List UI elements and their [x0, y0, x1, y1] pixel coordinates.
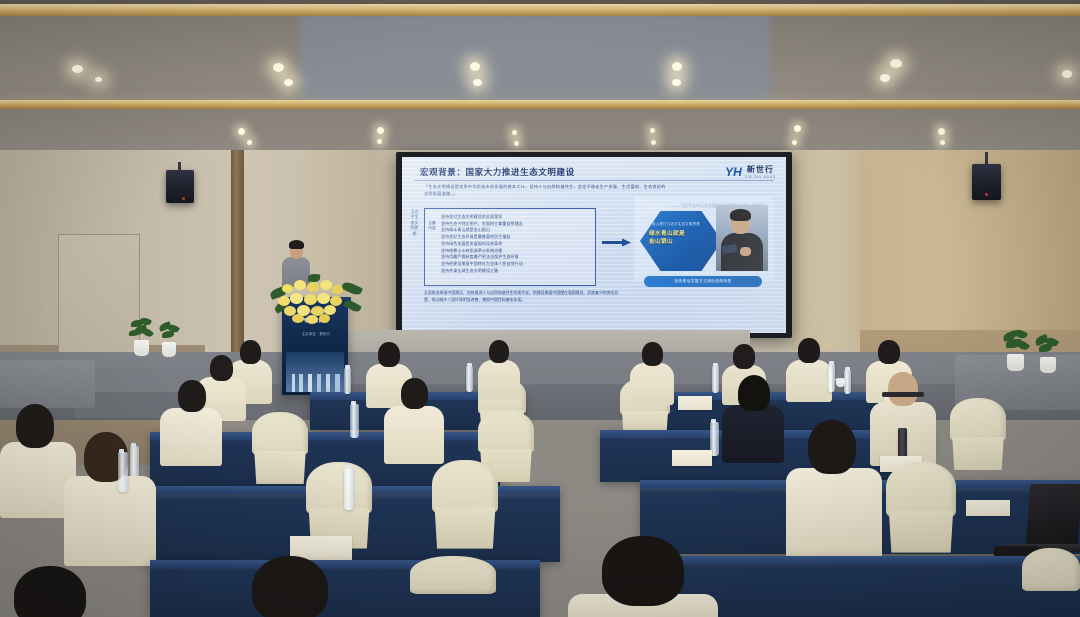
podium-line3: 主办单位 · 新世行 [288, 331, 344, 336]
speaker-mount [985, 152, 988, 164]
ceiling-downlight [672, 79, 681, 86]
attendee [0, 566, 118, 617]
potted-plant-right-1 [1000, 330, 1030, 374]
ceiling-downlight [512, 130, 517, 135]
hex-eyebrow: 深入践行习近平生态文明思想 [652, 221, 700, 226]
attendee [384, 378, 444, 460]
water-bottle[interactable] [828, 364, 835, 392]
slide-box-item: 坚持良好生态环境是最普惠的民生福祉 [441, 234, 589, 241]
attendee [786, 420, 882, 560]
chair[interactable] [886, 462, 956, 550]
notepad[interactable] [966, 500, 1010, 516]
stage-curtain-right [790, 150, 870, 350]
flower-arrangement [270, 272, 362, 324]
speaker-mount [178, 162, 181, 170]
chair[interactable] [410, 556, 496, 617]
attendee [232, 556, 352, 617]
water-bottle[interactable] [118, 452, 128, 492]
attendee [722, 375, 784, 459]
conference-hall-photo: 宏观背景：国家大力推进生态文明建设 YH 新世行 XIN SHI HANG 「生… [0, 0, 1080, 617]
portrait-hair [730, 209, 751, 221]
attendee [64, 432, 156, 562]
ceiling-downlight [72, 65, 83, 73]
slide-content-box: 坚持党对生态文明建设的全面领导 坚持生态兴则文明兴，牢固树立尊重自然理念 坚持绿… [424, 208, 596, 286]
speaker-led [182, 197, 185, 200]
water-bottle[interactable] [844, 370, 851, 394]
ceiling-downlight [273, 63, 284, 72]
ceiling-downlight [377, 139, 382, 144]
potted-plant-right-2 [1031, 334, 1061, 376]
water-bottle[interactable] [350, 404, 359, 438]
hex-title: 绿水青山就是 金山银山 [649, 231, 685, 246]
slide-title: 宏观背景：国家大力推进生态文明建设 [420, 166, 575, 178]
chair[interactable] [252, 412, 308, 482]
presentation-slide[interactable]: 宏观背景：国家大力推进生态文明建设 YH 新世行 XIN SHI HANG 「生… [402, 157, 786, 333]
chair[interactable] [432, 460, 498, 546]
ceiling-downlight [284, 79, 293, 86]
ceiling-lower-band [0, 109, 1080, 154]
speaker-led [985, 193, 988, 196]
ceiling-downlight [514, 141, 519, 146]
slide-pill-banner: 加快推动发展方式绿色低碳转型 [644, 276, 762, 287]
slide-box-item: 坚持共谋全球生态文明建设之路 [441, 268, 589, 275]
slide-box-item: 坚持党对生态文明建设的全面领导 [441, 214, 589, 221]
slide-side-label: 习近平生态文明思想 [410, 209, 419, 236]
ceiling-downlight [377, 127, 384, 134]
attendee [478, 340, 520, 398]
attendee [786, 338, 832, 400]
slide-box-tag: 主要内容 [428, 221, 436, 230]
slide-box-item: 坚持统筹山水林田湖草沙系统治理 [441, 248, 589, 255]
company-logo: YH 新世行 XIN SHI HANG [725, 164, 776, 179]
chair[interactable] [1022, 548, 1080, 617]
wall-speaker-left [166, 170, 194, 203]
ceiling-downlight [650, 128, 655, 133]
slide-quote-line1: 「生态文明建设是关系中华民族永续发展的根本大计，坚持人与自然和谐共生，坚定不移走… [424, 183, 772, 190]
pill-text: 加快推动发展方式绿色低碳转型 [674, 279, 731, 284]
podium-graphic [286, 352, 344, 392]
chair[interactable] [950, 398, 1006, 468]
potted-plant-left-1 [128, 318, 154, 358]
ceiling-downlight [651, 140, 656, 145]
notepad[interactable] [672, 450, 712, 466]
slide-box-item: 坚持生态兴则文明兴，牢固树立尊重自然理念 [441, 221, 589, 228]
ceiling-downlight [938, 128, 945, 135]
slide-portrait-photo [716, 205, 768, 271]
ceiling-downlight [890, 59, 902, 68]
paper-cup[interactable] [836, 380, 845, 387]
ceiling-downlight [794, 125, 801, 132]
slide-quote: 「生态文明建设是关系中华民族永续发展的根本大计，坚持人与自然和谐共生，坚定不移走… [424, 183, 772, 198]
ceiling-downlight [470, 62, 480, 71]
slide-box-item: 坚持把建设美丽中国转化为全体人民自觉行动 [441, 261, 589, 268]
ceiling-downlight [880, 74, 890, 82]
presenter-hair [289, 240, 304, 249]
attendee [568, 536, 718, 617]
ceiling-downlight [238, 128, 245, 135]
ceiling-downlight [792, 140, 797, 145]
ceiling-downlight [473, 79, 482, 86]
ceiling-downlight [1062, 70, 1072, 78]
logo-name: 新世行 [747, 164, 774, 175]
ceiling-downlight [95, 77, 102, 82]
slide-box-item: 坚持用最严格制度最严密法治保护生态环境 [441, 254, 589, 261]
bench-left [0, 360, 95, 408]
ceiling-cove-light-upper [0, 4, 1080, 16]
hex-title-line2: 金山银山 [649, 239, 685, 247]
eyeglasses-icon [882, 392, 924, 397]
chair[interactable] [306, 462, 372, 546]
logo-subtitle: XIN SHI HANG [745, 175, 776, 179]
slide-box-item: 坚持绿色发展是发展观的深刻革命 [441, 241, 589, 248]
slide-title-rule [414, 180, 774, 181]
slide-footer-text: 全面推进美丽中国建设，加快推进人与自然和谐共生的现代化，把建设美丽中国摆在强国建… [424, 290, 624, 304]
table-row1-right [672, 556, 1080, 617]
water-bottle[interactable] [466, 366, 473, 392]
water-bottle[interactable] [344, 468, 354, 510]
attendee [630, 342, 674, 402]
water-bottle[interactable] [712, 366, 719, 393]
potted-plant-left-2 [155, 322, 181, 360]
attendee [160, 380, 222, 462]
ceiling-downlight [672, 62, 682, 71]
portrait-hand [740, 247, 751, 256]
laptop-screen[interactable] [1026, 484, 1080, 546]
ceiling-cove-light-lower [0, 100, 1080, 109]
slide-box-item: 坚持绿水青山就是金山银山 [441, 227, 589, 234]
right-arrow-icon [602, 238, 632, 247]
water-bottle[interactable] [344, 368, 351, 394]
logo-mark-icon: YH [725, 166, 742, 178]
slide-hex-graphic: 深入践行习近平生态文明思想 绿水青山就是 金山银山 加快推动发展方式绿色低碳转型 [634, 197, 774, 282]
ceiling-downlight [940, 140, 945, 145]
ceiling-downlight [247, 140, 252, 145]
hex-title-line1: 绿水青山就是 [649, 231, 685, 239]
slide-box-items: 坚持党对生态文明建设的全面领导 坚持生态兴则文明兴，牢固树立尊重自然理念 坚持绿… [425, 209, 595, 274]
notepad[interactable] [678, 396, 712, 410]
